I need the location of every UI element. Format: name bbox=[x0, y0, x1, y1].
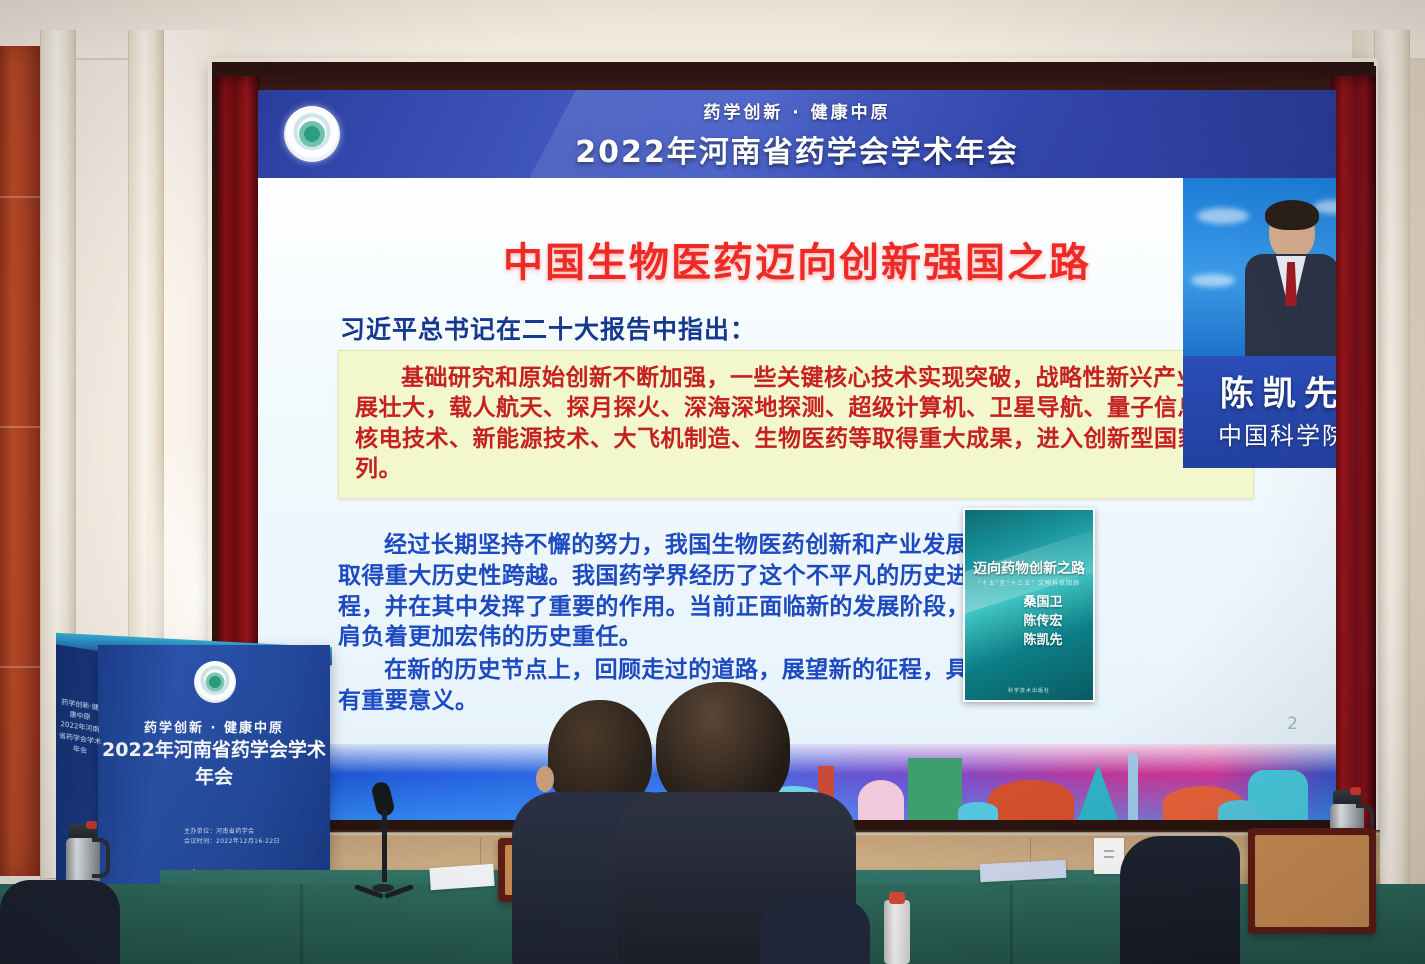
slide-page-number: 2 bbox=[1287, 714, 1298, 734]
speaker-name: 陈凯先 bbox=[1183, 366, 1336, 415]
curtain-top bbox=[216, 66, 1376, 90]
podium-details: 主办单位：河南省药学会 会议时间：2022年12月16-22日 bbox=[184, 827, 324, 847]
conference-name: 2022年河南省药学会学术年会 bbox=[258, 127, 1336, 171]
conference-slogan: 药学创新 · 健康中原 bbox=[258, 98, 1336, 123]
seated-attendee bbox=[0, 880, 120, 964]
name-placard-icon bbox=[1094, 838, 1124, 874]
speaker-organization: 中国科学院 bbox=[1183, 416, 1336, 451]
seated-attendee bbox=[760, 900, 870, 964]
podium-banner: 药学创新 · 健康中原 2022年河南省药学会学术年会 主办单位：河南省药学会 … bbox=[98, 645, 330, 895]
wall-pilaster-3 bbox=[1374, 30, 1410, 960]
podium-conference-name: 2022年河南省药学会学术年会 bbox=[98, 735, 330, 789]
slide-lead-line: 习近平总书记在二十大报告中指出： bbox=[340, 310, 756, 346]
book-cover-image: 迈向药物创新之路 "十五"至"十三五" 文物科技回顾 桑国卫 陈传宏 陈凯先 科… bbox=[963, 508, 1095, 702]
podium-emblem-icon bbox=[194, 661, 236, 703]
quote-text: 基础研究和原始创新不断加强，一些关键核心技术实现突破，战略性新兴产业发展壮大，载… bbox=[355, 363, 1237, 484]
slide-title: 中国生物医药迈向创新强国之路 bbox=[258, 230, 1336, 288]
podium-time-line: 会议时间：2022年12月16-22日 bbox=[184, 837, 324, 847]
slide-header-banner: 药学创新 · 健康中原 2022年河南省药学会学术年会 bbox=[258, 90, 1336, 178]
speaker-portrait-icon bbox=[1243, 204, 1336, 356]
podium-host-line: 主办单位：河南省药学会 bbox=[184, 827, 324, 837]
curtain-right bbox=[1330, 76, 1376, 832]
paper-documents-icon bbox=[429, 864, 494, 890]
book-title: 迈向药物创新之路 bbox=[971, 558, 1087, 578]
quote-box: 基础研究和原始创新不断加强，一些关键核心技术实现突破，战略性新兴产业发展壮大，载… bbox=[338, 350, 1254, 499]
microphone-stand-icon bbox=[352, 782, 418, 894]
wooden-chair-icon bbox=[1248, 828, 1376, 934]
speaker-video-overlay: 陈凯先 中国科学院 bbox=[1183, 178, 1336, 468]
paragraph-1: 经过长期坚持不懈的努力，我国生物医药创新和产业发展取得重大历史性跨越。我国药学界… bbox=[338, 530, 978, 653]
podium-slogan: 药学创新 · 健康中原 bbox=[98, 717, 330, 736]
wood-wall-panel bbox=[0, 46, 40, 876]
book-authors: 桑国卫 陈传宏 陈凯先 bbox=[995, 594, 1091, 651]
podium-side-text: 药学创新·健康中原 2022年河南省药学会学术年会 bbox=[58, 697, 102, 760]
book-subtitle: "十五"至"十三五" 文物科技回顾 bbox=[971, 578, 1087, 587]
conference-room-photo: 药学创新 · 健康中原 2022年河南省药学会学术年会 中国生物医药迈向创新强国… bbox=[0, 0, 1425, 964]
seated-attendee bbox=[1120, 836, 1240, 964]
slide-body: 中国生物医药迈向创新强国之路 习近平总书记在二十大报告中指出： 基础研究和原始创… bbox=[258, 178, 1336, 744]
book-publisher: 科学技术出版社 bbox=[965, 687, 1093, 694]
water-bottle-icon bbox=[884, 900, 910, 964]
